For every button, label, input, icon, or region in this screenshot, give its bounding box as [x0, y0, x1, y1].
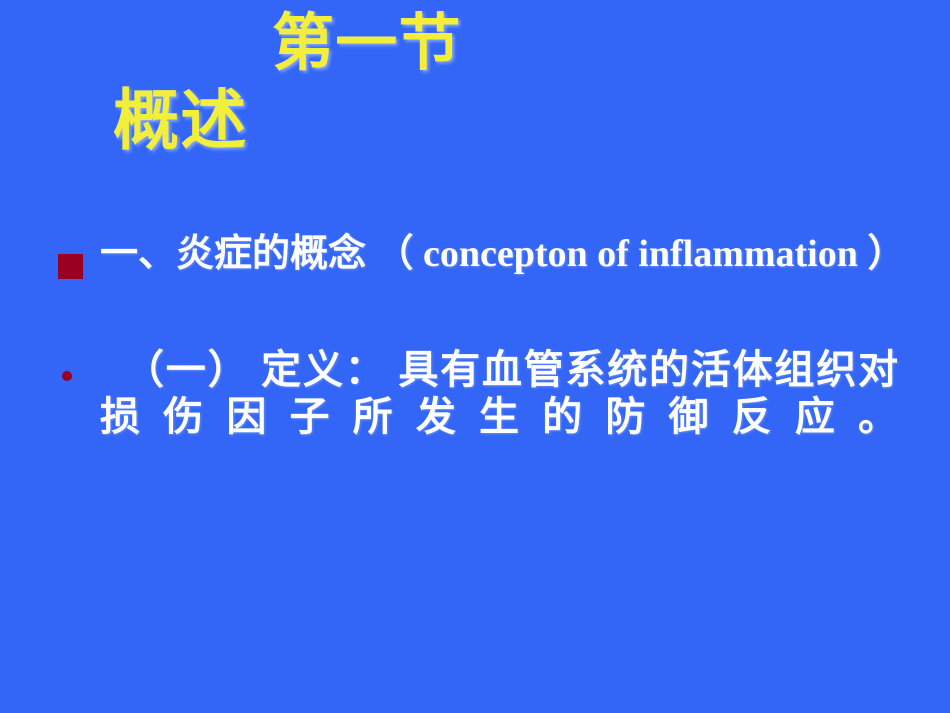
square-bullet-icon [58, 254, 83, 279]
dot-bullet-icon [62, 371, 72, 381]
bullet-item-definition-text: （一） 定义： 具有血管系统的活体组织对损伤因子所发生的防御反应。 [100, 346, 898, 488]
bullet-item-definition: （一） 定义： 具有血管系统的活体组织对损伤因子所发生的防御反应。 [0, 346, 950, 488]
bullet-item-concept-text: 一、炎症的概念 （ concepton of inflammation ） [100, 232, 898, 320]
slide-title-secondary: 概述 [113, 88, 248, 154]
slide-title-primary: 第一节 [272, 12, 462, 74]
slide-body: 一、炎症的概念 （ concepton of inflammation ） （一… [0, 232, 950, 488]
presentation-slide: 第一节 概述 一、炎症的概念 （ concepton of inflammati… [0, 0, 950, 713]
bullet-item-concept: 一、炎症的概念 （ concepton of inflammation ） [0, 232, 950, 320]
